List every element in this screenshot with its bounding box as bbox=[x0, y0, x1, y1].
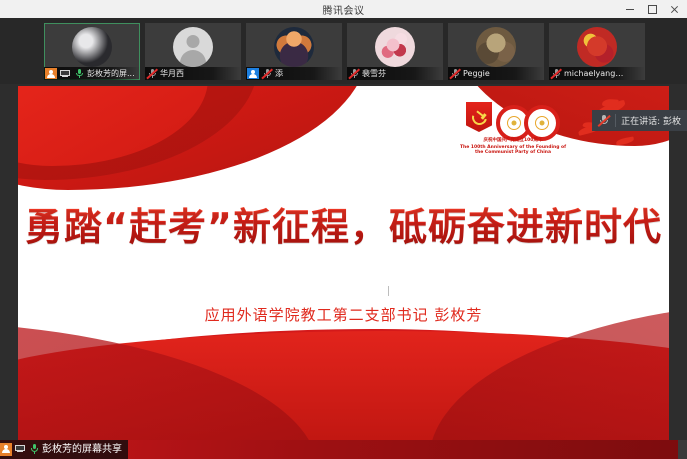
mic-muted-icon[interactable] bbox=[146, 68, 158, 79]
window-controls bbox=[619, 0, 685, 18]
slide-subtitle: 应用外语学院教工第二支部书记 彭枚芳 bbox=[18, 304, 669, 325]
mic-muted-icon[interactable] bbox=[550, 68, 562, 79]
slide-headline: 勇踏“赶考”新征程，砥砺奋进新时代 bbox=[18, 196, 669, 251]
participant-tile-1[interactable]: 彭枚芳的屏... bbox=[44, 23, 140, 80]
host-icon bbox=[45, 68, 57, 79]
participant-tile-infobar: 华月西 bbox=[145, 67, 241, 80]
participant-filmstrip[interactable]: 彭枚芳的屏... 华月西 添 bbox=[0, 18, 687, 84]
avatar bbox=[577, 27, 617, 67]
window-titlebar: 腾讯会议 bbox=[0, 0, 687, 19]
avatar bbox=[72, 27, 112, 67]
toast-divider bbox=[615, 114, 616, 127]
guest-icon bbox=[247, 68, 259, 79]
participant-name: 裴雪芬 bbox=[362, 67, 386, 80]
participant-tiles: 彭枚芳的屏... 华月西 添 bbox=[44, 23, 645, 80]
close-icon bbox=[670, 5, 679, 14]
participant-tile-6[interactable]: michaelyang()ˉ东... bbox=[549, 23, 645, 80]
participant-tile-infobar: michaelyang()ˉ东... bbox=[549, 67, 645, 80]
minimize-button[interactable] bbox=[619, 0, 641, 18]
screen-share-chip[interactable]: 彭枚芳的屏幕共享 bbox=[0, 440, 128, 459]
participant-tile-4[interactable]: 裴雪芬 bbox=[347, 23, 443, 80]
active-speaker-text: 正在讲话: 彭枚 bbox=[621, 114, 681, 127]
stage-left-margin bbox=[0, 84, 18, 459]
mic-on-icon[interactable] bbox=[73, 68, 85, 79]
participant-tile-3[interactable]: 添 bbox=[246, 23, 342, 80]
logo-caption-en: The 100th Anniversary of the Founding of… bbox=[458, 145, 568, 155]
party-flag bbox=[466, 102, 492, 136]
participant-name: Peggie bbox=[463, 67, 490, 80]
presentation-slide: 庆祝中国共产党成立100周年 The 100th Anniversary of … bbox=[18, 86, 669, 441]
screen-share-label: 彭枚芳的屏幕共享 bbox=[42, 440, 122, 459]
minimize-icon bbox=[626, 9, 634, 10]
participant-tile-infobar: 彭枚芳的屏... bbox=[44, 67, 140, 80]
stage-right-margin bbox=[669, 84, 687, 459]
logo-zero-2 bbox=[524, 105, 560, 141]
mic-on-icon[interactable] bbox=[28, 443, 40, 456]
participant-name: 华月西 bbox=[160, 67, 184, 80]
maximize-button[interactable] bbox=[641, 0, 663, 18]
scrollbar-corner bbox=[678, 440, 687, 459]
mic-muted-icon[interactable] bbox=[449, 68, 461, 79]
screen-share-statusbar: 彭枚芳的屏幕共享 bbox=[0, 440, 687, 459]
participant-tile-infobar: Peggie bbox=[448, 67, 544, 80]
screen-share-icon bbox=[59, 68, 71, 79]
active-speaker-toast: 正在讲话: 彭枚 bbox=[592, 110, 687, 131]
participant-tile-2[interactable]: 华月西 bbox=[145, 23, 241, 80]
hammer-sickle-icon bbox=[471, 109, 487, 123]
avatar bbox=[375, 27, 415, 67]
logo-caption-cn: 庆祝中国共产党成立100周年 bbox=[458, 138, 568, 143]
participant-tile-infobar: 添 bbox=[246, 67, 342, 80]
window-title: 腾讯会议 bbox=[323, 2, 365, 17]
filmstrip-left-pad bbox=[0, 18, 44, 84]
text-caret bbox=[388, 286, 389, 296]
avatar bbox=[173, 27, 213, 67]
host-icon bbox=[0, 443, 12, 456]
screen-share-icon bbox=[14, 443, 26, 456]
participant-tile-5[interactable]: Peggie bbox=[448, 23, 544, 80]
mic-muted-icon[interactable] bbox=[348, 68, 360, 79]
close-button[interactable] bbox=[663, 0, 685, 18]
maximize-icon bbox=[648, 5, 657, 14]
shared-screen-stage: 庆祝中国共产党成立100周年 The 100th Anniversary of … bbox=[0, 84, 687, 459]
avatar bbox=[476, 27, 516, 67]
tencent-meeting-window: 腾讯会议 彭枚芳的屏... 华月西 bbox=[0, 0, 687, 459]
mic-muted-icon bbox=[597, 114, 610, 127]
participant-name: 彭枚芳的屏... bbox=[87, 67, 135, 80]
participant-tile-infobar: 裴雪芬 bbox=[347, 67, 443, 80]
participant-name: michaelyang()ˉ东... bbox=[564, 67, 626, 80]
participant-name: 添 bbox=[275, 67, 283, 80]
mic-muted-icon[interactable] bbox=[261, 68, 273, 79]
cpc-centenary-logo: 庆祝中国共产党成立100周年 The 100th Anniversary of … bbox=[458, 100, 568, 158]
avatar bbox=[274, 27, 314, 67]
